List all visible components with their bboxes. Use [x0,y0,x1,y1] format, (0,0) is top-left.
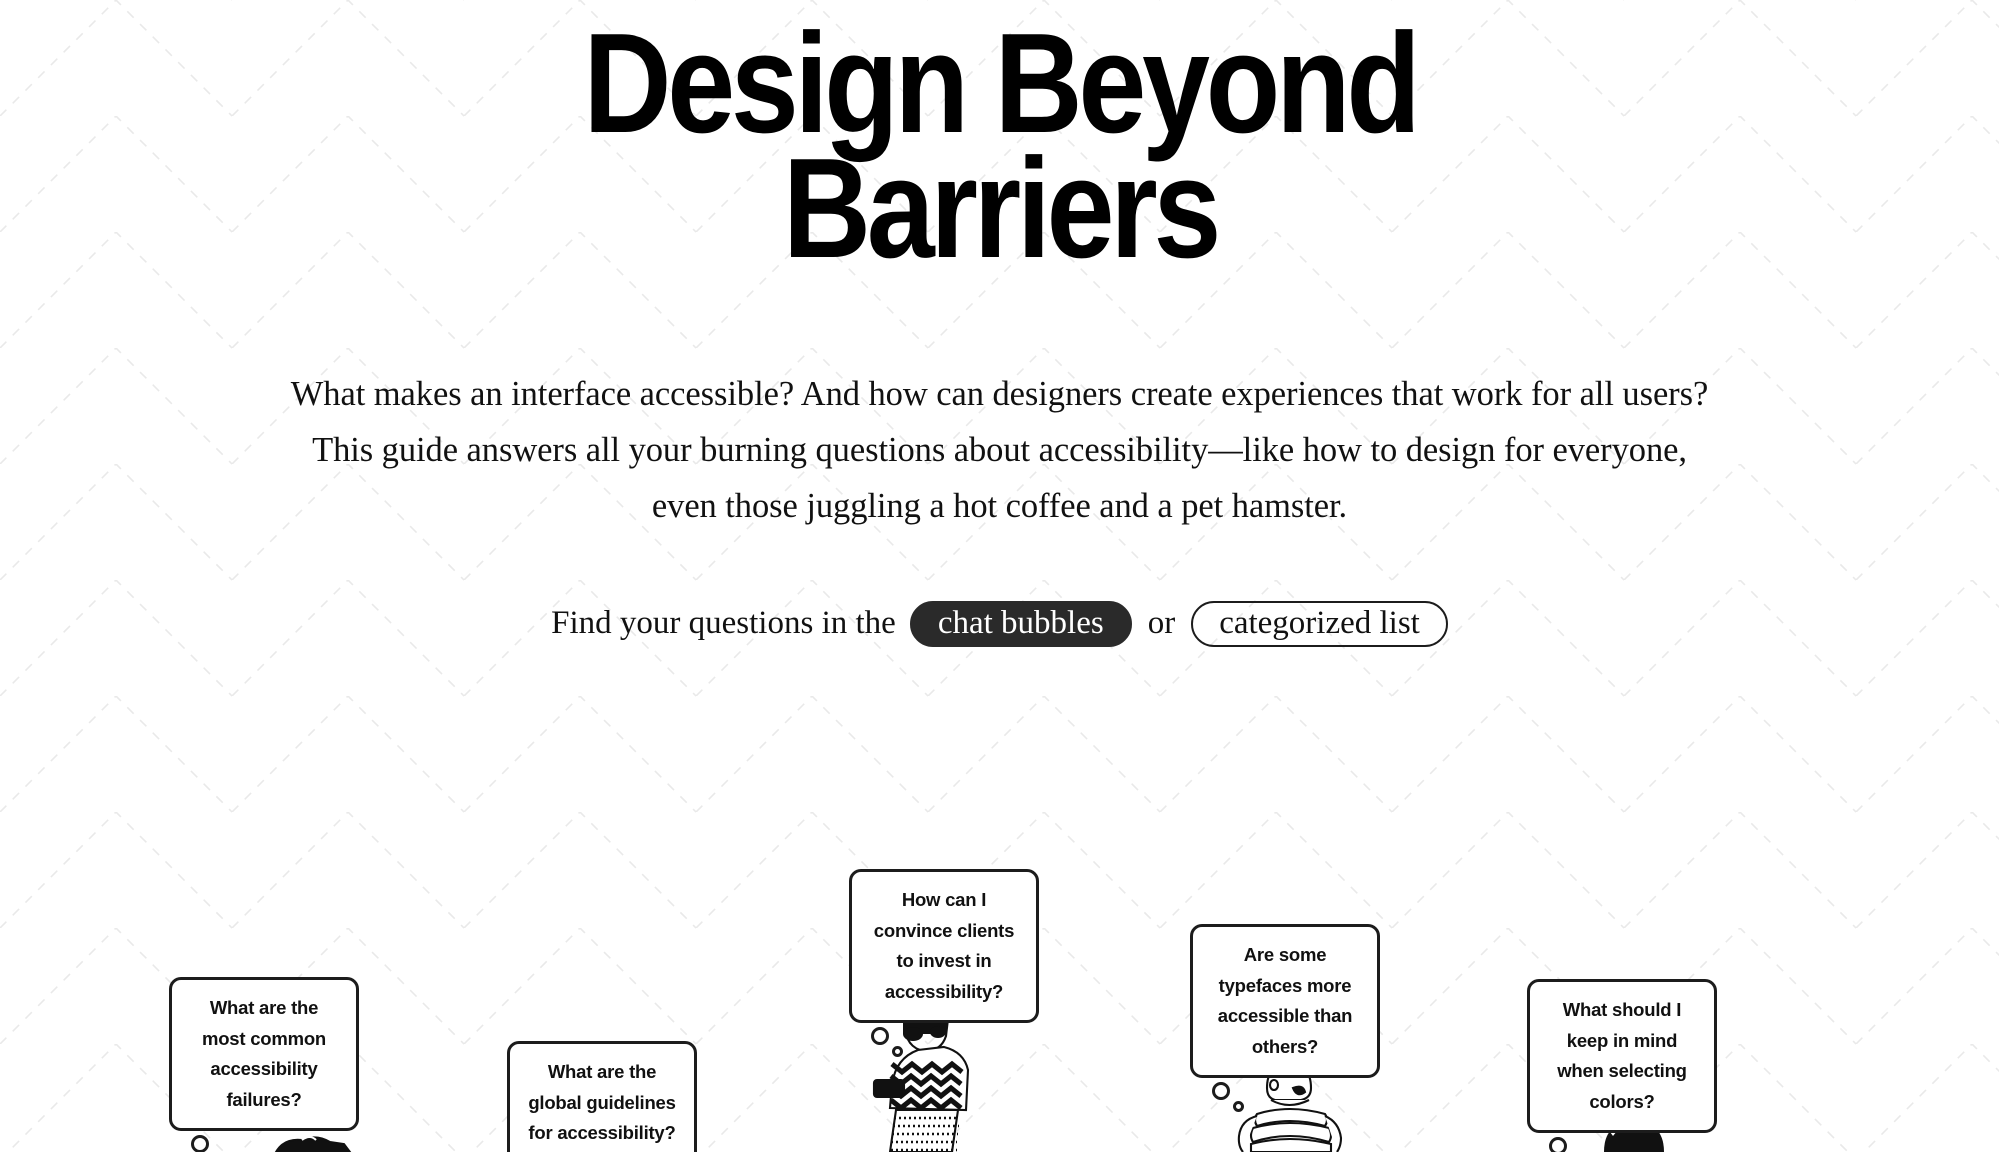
chat-bubble-text: Are some typefaces more accessible than … [1190,924,1380,1078]
page-intro-paragraph: What makes an interface accessible? And … [290,272,1710,535]
chat-bubble-tail [1190,1078,1380,1112]
page-title: Design Beyond Barriers [570,0,1430,272]
chat-bubble-global-guidelines[interactable]: What are the global guidelines for acces… [507,1041,697,1152]
chat-bubble-selecting-colors[interactable]: What should I keep in mind when selectin… [1527,979,1717,1152]
chat-bubble-common-failures[interactable]: What are the most common accessibility f… [169,977,359,1152]
view-mode-conjunction: or [1146,605,1178,642]
tail-dot-large-icon [871,1027,889,1045]
chat-bubble-convince-clients[interactable]: How can I convince clients to invest in … [849,869,1039,1057]
tail-dot-large-icon [1549,1137,1567,1152]
tail-dot-large-icon [1212,1082,1230,1100]
chat-bubble-text: What are the most common accessibility f… [169,977,359,1131]
page-title-line-2: Barriers [782,129,1216,288]
chat-bubble-tail [1527,1133,1717,1152]
chat-bubble-tail [849,1023,1039,1057]
view-mode-chat-bubbles-button[interactable]: chat bubbles [910,601,1132,647]
chat-bubble-typefaces[interactable]: Are some typefaces more accessible than … [1190,924,1380,1112]
tail-dot-small-icon [892,1046,903,1057]
chat-bubble-text: What should I keep in mind when selectin… [1527,979,1717,1133]
view-mode-switcher: Find your questions in the chat bubbles … [0,601,1999,647]
tail-dot-small-icon [1233,1101,1244,1112]
chat-bubble-text: How can I convince clients to invest in … [849,869,1039,1023]
tail-dot-large-icon [191,1135,209,1152]
chat-bubble-tail [169,1131,359,1152]
chat-bubble-text: What are the global guidelines for acces… [507,1041,697,1152]
view-mode-label: Find your questions in the [551,605,896,642]
view-mode-categorized-list-button[interactable]: categorized list [1191,601,1448,647]
